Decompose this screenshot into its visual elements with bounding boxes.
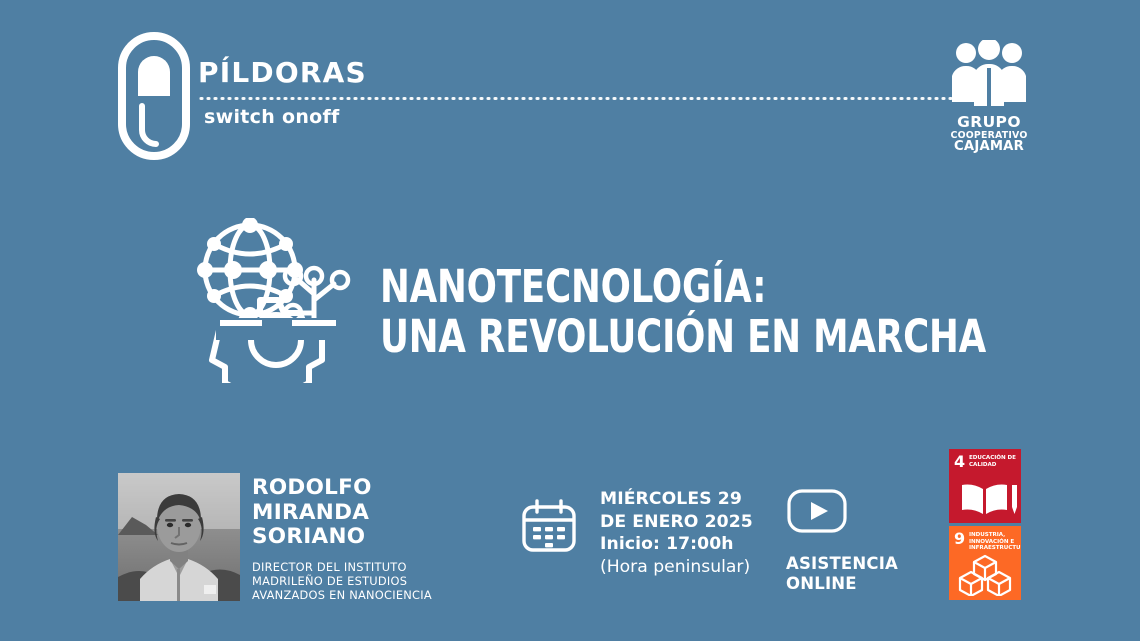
sdg-badge-9-label: INDUSTRIA, INNOVACIÓN E INFRAESTRUCTURA <box>969 532 1019 552</box>
speaker-role-line-2: MADRILEÑO DE ESTUDIOS <box>252 574 442 588</box>
sdg-badges: 4 EDUCACIÓN DE CALIDAD 9 INDUSTRIA, INNO… <box>949 449 1021 604</box>
attendance-label-line-1: ASISTENCIA <box>786 554 936 574</box>
capsule-pill-icon <box>118 32 190 160</box>
event-timezone-note: (Hora peninsular) <box>600 556 770 579</box>
sdg-badge-9: 9 INDUSTRIA, INNOVACIÓN E INFRAESTRUCTUR… <box>949 526 1021 600</box>
attendance-label: ASISTENCIA ONLINE <box>786 554 936 593</box>
event-date-line-2: DE ENERO 2025 <box>600 511 770 534</box>
sdg-badge-9-number: 9 <box>954 531 965 547</box>
calendar-icon <box>520 498 578 554</box>
speaker-role-line-1: DIRECTOR DEL INSTITUTO <box>252 560 442 574</box>
page-title: NANOTECNOLOGÍA: UNA REVOLUCIÓN EN MARCHA <box>380 262 1100 362</box>
play-video-icon <box>786 488 848 534</box>
sdg-badge-4-number: 4 <box>954 454 965 470</box>
sponsor-line-1: GRUPO <box>948 115 1030 131</box>
speaker-name: RODOLFO MIRANDA SORIANO <box>252 476 442 550</box>
speaker-photo <box>118 473 240 601</box>
footer-bar: RODOLFO MIRANDA SORIANO DIRECTOR DEL INS… <box>0 440 1140 641</box>
speaker-name-line-3: SORIANO <box>252 525 442 550</box>
speaker-name-line-1: RODOLFO <box>252 476 442 501</box>
attendance-block: ASISTENCIA ONLINE <box>786 488 936 593</box>
stacked-cubes-icon <box>949 554 1021 596</box>
event-start-time: Inicio: 17:00h <box>600 533 770 556</box>
nanotechnology-gear-molecule-icon <box>188 218 360 383</box>
three-people-icon <box>948 40 1030 108</box>
open-book-pencil-icon <box>949 477 1021 519</box>
header-bar: PÍLDORAS switch onoff GRUPO COOPERATIVO … <box>0 0 1140 175</box>
event-date-text: MIÉRCOLES 29 DE ENERO 2025 Inicio: 17:00… <box>600 488 770 579</box>
sponsor-line-3: CAJAMAR <box>948 140 1030 153</box>
sponsor-logo: GRUPO COOPERATIVO CAJAMAR <box>948 40 1030 160</box>
title-line-1: NANOTECNOLOGÍA: <box>380 262 1014 312</box>
brand-block: PÍLDORAS switch onoff <box>198 58 958 142</box>
sdg-badge-4-label: EDUCACIÓN DE CALIDAD <box>969 455 1019 468</box>
speaker-role: DIRECTOR DEL INSTITUTO MADRILEÑO DE ESTU… <box>252 560 442 603</box>
sponsor-name: GRUPO COOPERATIVO CAJAMAR <box>948 115 1030 154</box>
event-date-line-1: MIÉRCOLES 29 <box>600 488 770 511</box>
title-line-2: UNA REVOLUCIÓN EN MARCHA <box>380 312 1014 362</box>
attendance-label-line-2: ONLINE <box>786 574 936 594</box>
speaker-info: RODOLFO MIRANDA SORIANO DIRECTOR DEL INS… <box>252 476 442 602</box>
brand-subtitle: switch onoff <box>204 106 340 128</box>
brand-title: PÍLDORAS <box>198 58 958 88</box>
speaker-role-line-3: AVANZADOS EN NANOCIENCIA <box>252 588 442 602</box>
dotted-divider <box>198 96 958 101</box>
speaker-name-line-2: MIRANDA <box>252 501 442 526</box>
sdg-badge-4: 4 EDUCACIÓN DE CALIDAD <box>949 449 1021 523</box>
